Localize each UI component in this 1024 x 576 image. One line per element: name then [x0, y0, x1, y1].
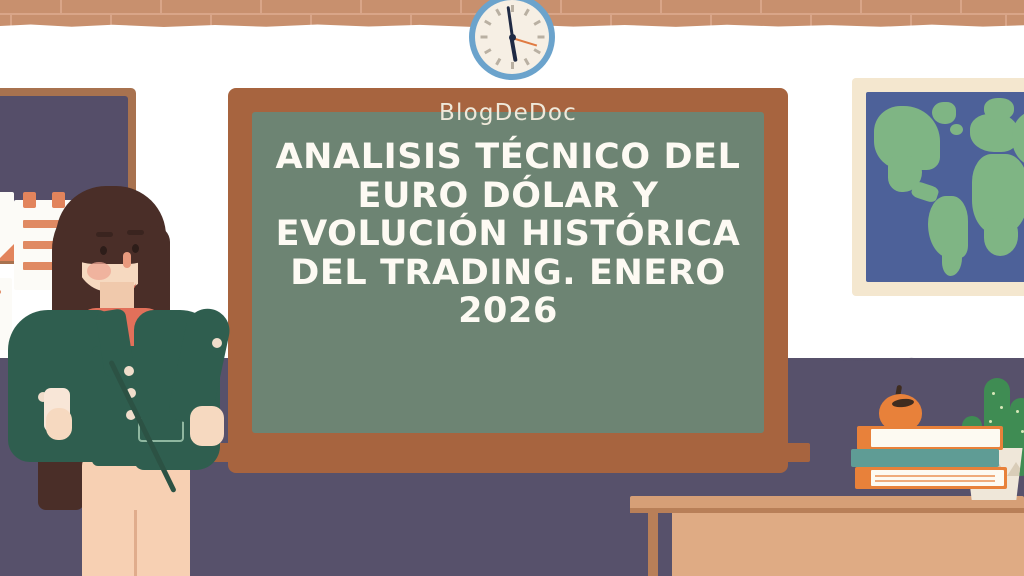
clock-tick — [523, 9, 529, 17]
cactus-spine-dot — [992, 392, 995, 395]
clock-hour-hand — [510, 38, 518, 62]
teacher-character — [0, 170, 250, 576]
cactus-spine-dot — [1016, 410, 1019, 413]
brick-mortar-vertical — [460, 0, 462, 13]
clock-second-hand — [512, 37, 537, 47]
desk-top-shadow — [630, 508, 1024, 513]
book-pages — [871, 429, 1000, 447]
desk-leg — [648, 510, 658, 576]
clock-tick — [495, 9, 501, 17]
clock-tick — [523, 58, 529, 66]
book-page-line — [875, 475, 995, 477]
brick-mortar-vertical — [610, 15, 612, 27]
eye-right — [132, 244, 139, 253]
brick-mortar-vertical — [760, 0, 762, 13]
chalkboard-text-block: BlogDeDoc Analisis técnico del euro dóla… — [252, 100, 764, 331]
clock-center-pin — [509, 34, 516, 41]
desk-body — [672, 513, 1024, 576]
clock-tick — [495, 58, 501, 66]
book-top — [857, 426, 1003, 450]
clock-tick — [511, 62, 514, 69]
clock-tick — [511, 5, 514, 12]
continent-south-america-tail — [942, 244, 962, 276]
page-title: Analisis técnico del euro dólar y evoluc… — [252, 138, 764, 331]
eye-left — [100, 246, 107, 255]
brick-mortar-vertical — [560, 0, 562, 13]
clock-face — [475, 0, 549, 74]
brick-mortar-vertical — [60, 0, 62, 13]
hand-right — [190, 406, 224, 446]
clock-tick — [484, 20, 492, 26]
brick-mortar-vertical — [160, 0, 162, 13]
cactus-spine-dot — [989, 420, 992, 423]
brick-mortar-vertical — [660, 0, 662, 13]
landmass-scandinavia — [984, 98, 1014, 120]
brick-mortar-vertical — [360, 0, 362, 13]
brick-mortar-vertical — [710, 15, 712, 27]
cactus-spine-dot — [1000, 406, 1003, 409]
book-middle — [851, 449, 999, 467]
landmass-greenland — [932, 102, 956, 124]
brick-mortar-vertical — [910, 15, 912, 27]
landmass-island — [950, 124, 963, 135]
eyebrow-left — [96, 232, 113, 237]
brick-mortar-vertical — [960, 0, 962, 13]
book-page-line — [875, 480, 995, 482]
pants-seam — [134, 510, 137, 576]
brick-mortar-vertical — [810, 15, 812, 27]
eyebrow-right — [127, 230, 144, 235]
brick-mortar-vertical — [10, 15, 12, 27]
brick-mortar-vertical — [1005, 15, 1007, 27]
clock-tick — [533, 48, 541, 54]
chalkboard-ledge — [210, 443, 810, 462]
cheek-blush — [87, 262, 111, 280]
clock-tick — [533, 20, 541, 26]
jacket-button — [124, 366, 134, 376]
continent-africa-south — [984, 218, 1018, 256]
book-pages — [871, 470, 1004, 486]
world-map-ocean — [866, 92, 1024, 282]
cuff-button — [212, 338, 222, 348]
brick-mortar-vertical — [260, 0, 262, 13]
clock-tick — [480, 36, 487, 39]
brick-mortar-vertical — [860, 0, 862, 13]
title-card-scene: A Blog — [0, 0, 1024, 576]
nose — [123, 252, 131, 268]
clock-tick — [484, 48, 492, 54]
world-map-poster — [852, 78, 1024, 296]
brand-label: BlogDeDoc — [252, 100, 764, 126]
book-bottom — [855, 467, 1007, 489]
clock-tick — [537, 36, 544, 39]
hand-left — [46, 408, 72, 440]
